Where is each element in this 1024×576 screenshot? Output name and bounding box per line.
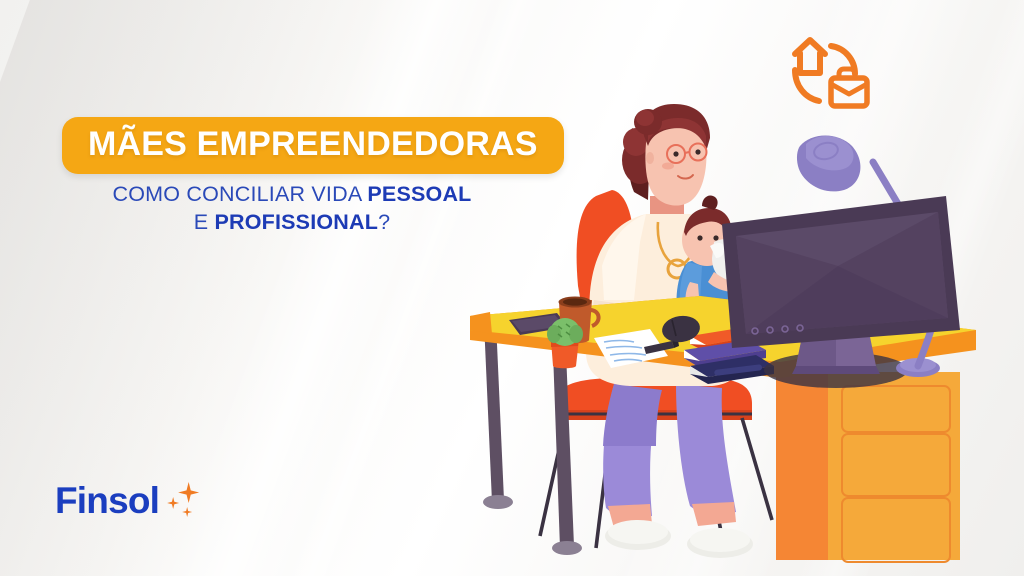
subtitle-line2-bold: PROFISSIONAL bbox=[214, 210, 378, 234]
headline-text: MÃES EMPREENDEDORAS bbox=[88, 127, 538, 161]
briefcase-icon bbox=[831, 69, 867, 106]
sparkle-icon bbox=[167, 497, 179, 509]
woman-head bbox=[622, 104, 710, 206]
sparkle-icon bbox=[178, 482, 199, 503]
sparkle-icon bbox=[182, 507, 192, 517]
home-briefcase-balance-icon bbox=[783, 28, 875, 120]
subtitle-line1-bold: PESSOAL bbox=[367, 182, 471, 206]
cactus-plant bbox=[547, 318, 583, 368]
brand-logo[interactable]: Finsol bbox=[55, 478, 207, 522]
subtitle-line1-regular: COMO CONCILIAR VIDA bbox=[112, 182, 367, 206]
subtitle-line2-tail: ? bbox=[378, 210, 390, 234]
logo-sparkles bbox=[165, 478, 207, 522]
poster-canvas: MÃES EMPREENDEDORAS COMO CONCILIAR VIDA … bbox=[0, 0, 1024, 576]
subtitle-line2-regular: E bbox=[194, 210, 215, 234]
headline-badge: MÃES EMPREENDEDORAS bbox=[62, 117, 564, 174]
logo-wordmark: Finsol bbox=[55, 482, 159, 519]
house-icon bbox=[795, 40, 825, 73]
subtitle-block: COMO CONCILIAR VIDA PESSOAL E PROFISSION… bbox=[62, 180, 522, 237]
